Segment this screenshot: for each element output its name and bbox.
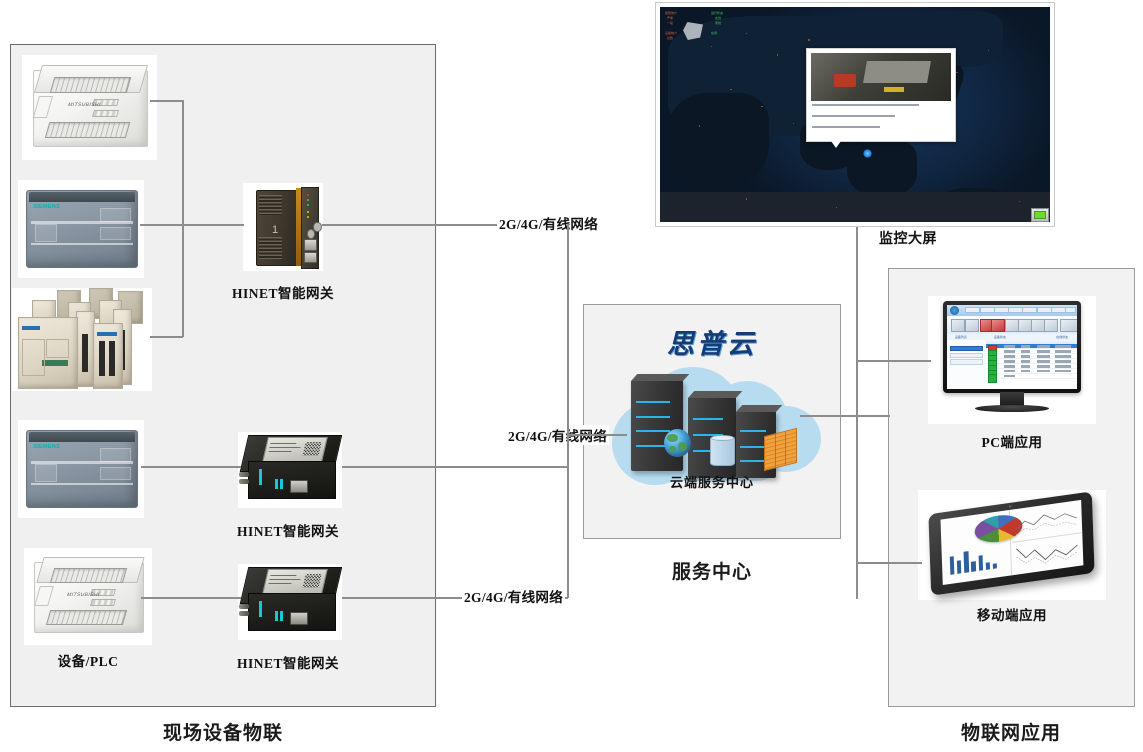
row-cell bbox=[1037, 365, 1050, 367]
app-tree-panel bbox=[947, 340, 987, 390]
gateway-front-face bbox=[248, 461, 335, 499]
link-mobile-riser bbox=[920, 562, 922, 564]
hinet-gateway-din-label: HINET智能网关 bbox=[213, 282, 353, 302]
module-badge bbox=[97, 332, 117, 336]
link-plc-siemens-mid bbox=[141, 466, 241, 468]
bar-chart-bar bbox=[957, 561, 962, 575]
row-cell bbox=[1004, 360, 1015, 362]
rack-cpu-main bbox=[18, 317, 79, 389]
row-cell bbox=[1021, 355, 1030, 357]
rack-module-front bbox=[93, 323, 123, 389]
mitsubishi-plc-image-bottom: MITSUBISHI bbox=[24, 548, 152, 645]
database-icon bbox=[710, 436, 736, 466]
indicator-cyan-1 bbox=[259, 469, 262, 485]
qr-code bbox=[303, 442, 321, 456]
row-cell bbox=[1037, 345, 1050, 347]
row-cell bbox=[1055, 355, 1071, 357]
photo-red-part bbox=[834, 74, 856, 86]
cpu-door-right bbox=[46, 339, 69, 358]
map-point bbox=[956, 72, 957, 73]
hinet-gateway-box-image-2 bbox=[238, 564, 342, 640]
antenna-connector-2 bbox=[239, 479, 249, 484]
link-plc-mitsubishi-top bbox=[150, 100, 183, 102]
indicator-cyan-2 bbox=[275, 479, 278, 489]
link-plc-mitsubishi-bottom bbox=[141, 597, 241, 599]
trunk-vertical-right bbox=[856, 227, 858, 599]
link-to-monitoring-screen bbox=[856, 227, 858, 257]
row-cell bbox=[1021, 370, 1030, 372]
device-plc-label: 设备/PLC bbox=[24, 650, 152, 670]
hinet-gateway-box-label-2: HINET智能网关 bbox=[213, 652, 363, 672]
antenna-connector-2 bbox=[239, 611, 249, 616]
rj45-port-2 bbox=[304, 252, 317, 264]
cloud-brand-logo: 思普云 bbox=[593, 322, 831, 361]
plc-door bbox=[33, 96, 54, 118]
sticker-line-3 bbox=[269, 584, 291, 585]
row-cell bbox=[1004, 365, 1015, 367]
gateway-chassis: 1 bbox=[256, 190, 298, 266]
bar-chart-bar bbox=[978, 555, 983, 571]
vent-top bbox=[259, 195, 282, 214]
landmass-seasia bbox=[847, 140, 917, 196]
popup-text-line-2 bbox=[812, 115, 895, 117]
row-cell bbox=[1055, 350, 1071, 352]
monitor-bezel: 设备列表 设备状态 在线状态 bbox=[943, 301, 1081, 393]
plc-top-vent bbox=[29, 192, 135, 202]
qr-code bbox=[303, 574, 321, 588]
app-tab bbox=[1051, 307, 1066, 314]
plc-top-vent bbox=[29, 432, 135, 442]
legend-device-item-0: 总数 bbox=[667, 36, 673, 40]
server-top bbox=[736, 405, 783, 412]
row-cell bbox=[1037, 360, 1050, 362]
toolbar-icon[interactable] bbox=[1044, 319, 1058, 332]
toolbar-icon[interactable] bbox=[965, 319, 979, 332]
map-device-popup[interactable] bbox=[806, 48, 956, 142]
app-tab bbox=[994, 307, 1009, 314]
module-slot bbox=[82, 334, 88, 373]
server-led-bar bbox=[636, 430, 670, 432]
monitoring-screen-label: 监控大屏 bbox=[848, 228, 968, 248]
module-slot-b bbox=[109, 341, 116, 377]
firewall-mortar bbox=[786, 432, 787, 465]
subheader-right: 在线状态 bbox=[1056, 335, 1068, 339]
app-toolbar bbox=[947, 316, 1077, 335]
monitor-screen: 设备列表 设备状态 在线状态 bbox=[947, 305, 1077, 389]
link-riser-left-lower bbox=[182, 224, 184, 337]
row-cell bbox=[1021, 345, 1030, 347]
legend-alarm-title: 报警统计 bbox=[665, 11, 677, 15]
app-data-grid bbox=[986, 340, 1077, 390]
photo-gray-part bbox=[863, 61, 931, 83]
antenna-connector-2 bbox=[307, 229, 315, 239]
screen-lower-band bbox=[660, 192, 1050, 222]
indicator-cyan-3 bbox=[280, 611, 283, 621]
server-top bbox=[688, 391, 742, 398]
sticker-line-3 bbox=[269, 452, 291, 453]
led-green-1 bbox=[307, 199, 309, 201]
diagram-canvas: MITSUBISHI SIEMENS bbox=[0, 0, 1143, 752]
map-point bbox=[730, 89, 731, 90]
antenna-connector-1 bbox=[239, 472, 249, 477]
bar-chart-bar bbox=[993, 564, 997, 570]
toolbar-icon-alert[interactable] bbox=[991, 319, 1005, 332]
screen-status-badge bbox=[1031, 208, 1049, 222]
plc-door bbox=[34, 586, 54, 606]
applications-panel-caption: 物联网应用 bbox=[911, 718, 1111, 745]
indicator-cyan-3 bbox=[280, 479, 283, 489]
terminal-block-upper bbox=[50, 568, 127, 583]
row-cell bbox=[1004, 355, 1015, 357]
row-cell bbox=[1055, 345, 1071, 347]
toolbar-icon[interactable] bbox=[1060, 319, 1077, 332]
tree-node[interactable] bbox=[950, 353, 982, 358]
toolbar-icon[interactable] bbox=[1031, 319, 1045, 332]
rj45-port bbox=[290, 612, 307, 625]
rj45-port bbox=[290, 480, 307, 493]
indicator-cyan-1 bbox=[259, 601, 262, 617]
plc-chassis: MITSUBISHI bbox=[34, 562, 144, 634]
siemens-plc-image-mid: SIEMENS bbox=[18, 420, 144, 518]
siemens-logo-text: SIEMENS bbox=[33, 444, 60, 450]
row-cell bbox=[1055, 365, 1071, 367]
bar-chart-bar bbox=[986, 562, 990, 570]
terminal-block-upper bbox=[50, 77, 132, 93]
server-led-bar bbox=[636, 401, 670, 403]
link-plc-rack bbox=[150, 336, 183, 338]
row-cell bbox=[1021, 365, 1030, 367]
screen-display: 报警统计 严重 一般 运行状态 在线 离线 设备统计 总数 在用 bbox=[660, 7, 1050, 222]
popup-text-line-1 bbox=[812, 104, 919, 106]
module-seam-2 bbox=[31, 243, 133, 245]
app-tab bbox=[965, 307, 980, 314]
front-panel-3 bbox=[100, 227, 131, 240]
cloud-to-right-trunk bbox=[800, 415, 890, 417]
row-cell bbox=[1055, 370, 1071, 372]
tree-node-selected[interactable] bbox=[950, 346, 982, 351]
sticker-line-2 bbox=[270, 579, 301, 580]
server-led-bar bbox=[740, 460, 766, 462]
cpu-connector bbox=[42, 360, 68, 366]
row-cell bbox=[1021, 360, 1030, 362]
module-seam-2 bbox=[31, 483, 133, 485]
indicator-cyan-2 bbox=[275, 611, 278, 621]
plc-chassis: SIEMENS bbox=[26, 190, 139, 268]
pc-application-image: 设备列表 设备状态 在线状态 bbox=[928, 296, 1096, 424]
map-point bbox=[746, 198, 747, 199]
legend-region-shape bbox=[683, 22, 703, 40]
server-led-bar bbox=[740, 446, 766, 448]
cloud-service-graphic: 思普云 bbox=[593, 320, 831, 495]
link-to-mobile-application bbox=[856, 562, 921, 564]
tablet-camera bbox=[1009, 505, 1012, 508]
link-gateway-box1-to-trunk bbox=[342, 466, 568, 468]
app-tab bbox=[1022, 307, 1037, 314]
globe-landmass bbox=[669, 446, 676, 452]
popup-tail bbox=[831, 141, 841, 148]
service-center-caption: 服务中心 bbox=[612, 557, 812, 584]
mitsubishi-plc-image: MITSUBISHI bbox=[22, 55, 157, 160]
gateway-mark: 1 bbox=[272, 224, 278, 236]
led-row-2 bbox=[90, 599, 115, 606]
vent-bottom bbox=[259, 237, 282, 259]
hinet-gateway-box-label-1: HINET智能网关 bbox=[213, 520, 363, 540]
field-panel-caption: 现场设备物联 bbox=[113, 718, 333, 745]
plc-chassis: SIEMENS bbox=[26, 430, 139, 508]
row-status-chip bbox=[988, 374, 997, 383]
firewall-mortar bbox=[775, 434, 776, 467]
tablet-screen bbox=[940, 500, 1083, 585]
row-cell bbox=[1037, 355, 1050, 357]
gateway-front-face bbox=[248, 593, 335, 631]
app-tab bbox=[1065, 307, 1076, 314]
rj45-port-1 bbox=[304, 239, 317, 251]
mobile-application-label: 移动端应用 bbox=[948, 604, 1076, 624]
siemens-logo-text: SIEMENS bbox=[33, 204, 60, 210]
app-logo-orb bbox=[950, 306, 959, 315]
legend-status-item-1: 离线 bbox=[715, 21, 721, 25]
toolbar-icon[interactable] bbox=[1018, 319, 1032, 332]
mobile-application-image bbox=[918, 490, 1106, 600]
front-panel-3 bbox=[100, 467, 131, 480]
plc-brand-text: MITSUBISHI bbox=[67, 592, 101, 598]
row-cell bbox=[1004, 350, 1015, 352]
sticker-line-2 bbox=[270, 447, 301, 448]
monitor-stand-base bbox=[975, 405, 1049, 413]
server-led-bar bbox=[740, 430, 766, 432]
globe-landmass bbox=[678, 442, 687, 452]
antenna-connector-1 bbox=[239, 604, 249, 609]
monitoring-big-screen[interactable]: 报警统计 严重 一般 运行状态 在线 离线 设备统计 总数 在用 bbox=[655, 2, 1055, 227]
map-point bbox=[1019, 201, 1020, 202]
legend-alarm-item-1: 一般 bbox=[667, 21, 673, 25]
trunk-into-cloud bbox=[567, 434, 627, 436]
link-to-pc-application bbox=[856, 360, 931, 362]
legend-status-title: 运行状态 bbox=[711, 11, 723, 15]
row-cell bbox=[1004, 370, 1015, 372]
app-tab bbox=[980, 307, 995, 314]
trunk-vertical-left bbox=[567, 224, 569, 598]
plc-brand-text: MITSUBISHI bbox=[67, 102, 101, 108]
gateway-label-sticker bbox=[262, 437, 328, 462]
cpu-badge bbox=[22, 326, 40, 330]
hinet-gateway-box-image-1 bbox=[238, 432, 342, 508]
bar-chart-bar bbox=[972, 561, 977, 572]
front-panel-2 bbox=[100, 448, 131, 462]
plc-chassis: MITSUBISHI bbox=[33, 70, 148, 148]
app-tab bbox=[1037, 307, 1052, 314]
tree-node[interactable] bbox=[950, 359, 982, 364]
siemens-plc-image-top: SIEMENS bbox=[18, 180, 144, 278]
grid-row[interactable] bbox=[986, 374, 1077, 379]
terminal-block-lower bbox=[46, 610, 128, 625]
bar-chart-bar bbox=[950, 556, 955, 575]
subheader-left: 设备列表 bbox=[955, 335, 967, 339]
subheader-mid: 设备状态 bbox=[994, 335, 1006, 339]
app-tab bbox=[1008, 307, 1023, 314]
gateway-label-sticker bbox=[262, 569, 328, 594]
legend-status-item-0: 在线 bbox=[715, 16, 721, 20]
antenna-connector-1 bbox=[313, 222, 321, 232]
legend-alarm-item-0: 严重 bbox=[667, 16, 673, 20]
server-rack-left bbox=[631, 380, 683, 471]
toolbar-icon[interactable] bbox=[951, 319, 965, 332]
sticker-line-1 bbox=[271, 575, 297, 576]
front-panel-2 bbox=[100, 208, 131, 222]
module-slot-a bbox=[99, 341, 106, 377]
globe-landmass bbox=[667, 434, 678, 442]
server-led-bar bbox=[636, 416, 670, 418]
front-panel-1 bbox=[35, 464, 57, 481]
map-point bbox=[808, 39, 809, 40]
link-label-top: 2G/4G/有线网络 bbox=[497, 213, 600, 233]
status-indicator-green bbox=[1034, 211, 1046, 219]
pc-application-label: PC端应用 bbox=[948, 431, 1076, 451]
cloud-service-center-label: 云端服务中心 bbox=[593, 472, 831, 491]
row-cell bbox=[1037, 350, 1050, 352]
modular-plc-rack-image bbox=[12, 288, 152, 391]
cpu-door-left bbox=[22, 339, 45, 376]
map-legend: 报警统计 严重 一般 运行状态 在线 离线 设备统计 总数 在用 bbox=[665, 11, 741, 45]
row-cell bbox=[1004, 375, 1015, 377]
link-plc-siemens-top bbox=[140, 224, 244, 226]
row-cell bbox=[1037, 370, 1050, 372]
tablet-body bbox=[929, 491, 1096, 596]
map-active-marker[interactable] bbox=[863, 149, 872, 158]
terminal-block-lower bbox=[45, 122, 131, 138]
bar-chart-bar bbox=[964, 552, 969, 574]
server-top bbox=[631, 374, 690, 381]
server-led-bar bbox=[693, 418, 723, 420]
row-cell bbox=[1021, 350, 1030, 352]
landmass-africa bbox=[668, 93, 769, 188]
toolbar-icon[interactable] bbox=[1005, 319, 1019, 332]
monitor-stand-neck bbox=[1000, 392, 1024, 406]
popup-text-line-3 bbox=[812, 126, 880, 128]
sticker-line-1 bbox=[271, 443, 297, 444]
front-panel-1 bbox=[35, 224, 57, 241]
hinet-gateway-din-image: 1 bbox=[243, 183, 323, 271]
led-red bbox=[307, 194, 309, 196]
row-cell bbox=[1055, 360, 1071, 362]
photo-yellow-part bbox=[884, 87, 904, 92]
legend-device-title: 设备统计 bbox=[665, 31, 677, 35]
link-label-bottom: 2G/4G/有线网络 bbox=[462, 586, 565, 606]
row-cell bbox=[1004, 345, 1015, 347]
led-row-2 bbox=[92, 110, 119, 117]
globe-icon bbox=[664, 429, 690, 457]
popup-device-photo bbox=[811, 53, 951, 101]
legend-device-item-1: 在用 bbox=[711, 31, 717, 35]
